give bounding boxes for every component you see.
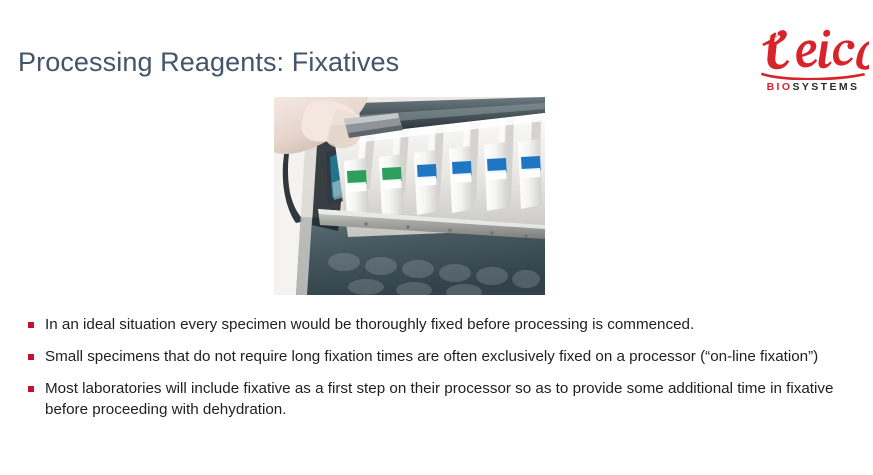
leica-wordmark-icon: [757, 26, 869, 80]
square-bullet-icon: [28, 322, 34, 328]
biosystems-subtitle: BIOSYSTEMS: [757, 82, 869, 93]
slide-canvas: BIOSYSTEMS Processing Reagents: Fixative…: [0, 0, 873, 475]
processor-reagent-drawer-photo: [274, 97, 545, 295]
square-bullet-icon: [28, 354, 34, 360]
logo-sub-bio: BIO: [767, 81, 793, 93]
list-item-text: In an ideal situation every specimen wou…: [45, 315, 846, 336]
list-item: Most laboratories will include fixative …: [28, 379, 846, 421]
list-item: Small specimens that do not require long…: [28, 347, 846, 368]
list-item-text: Most laboratories will include fixative …: [45, 379, 846, 421]
photo-illustration: [274, 97, 545, 295]
leica-biosystems-logo: BIOSYSTEMS: [757, 26, 869, 106]
logo-sub-systems: SYSTEMS: [792, 81, 859, 93]
bullet-list: In an ideal situation every specimen wou…: [28, 315, 846, 432]
square-bullet-icon: [28, 386, 34, 392]
list-item: In an ideal situation every specimen wou…: [28, 315, 846, 336]
list-item-text: Small specimens that do not require long…: [45, 347, 846, 368]
page-title: Processing Reagents: Fixatives: [18, 48, 399, 78]
